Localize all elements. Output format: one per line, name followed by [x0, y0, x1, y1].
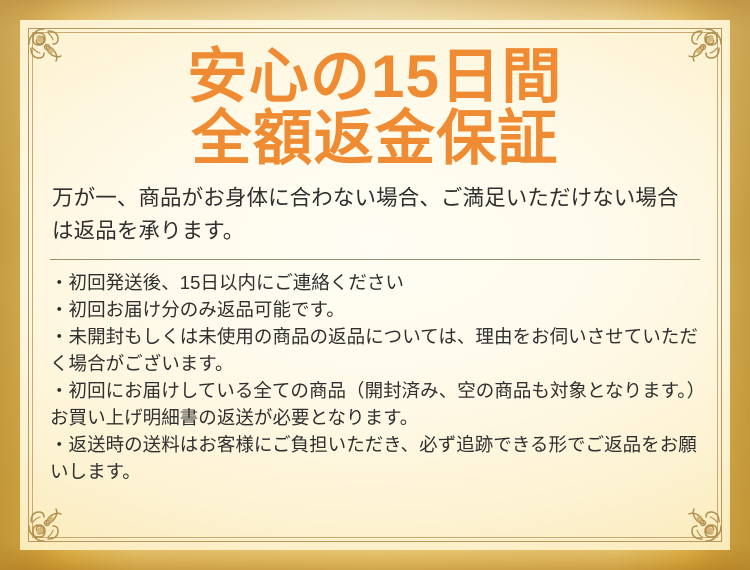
headline-line-1: 安心の15日間	[187, 43, 562, 110]
list-item: ・初回お届け分のみ返品可能です。	[50, 296, 702, 323]
list-item: ・未開封もしくは未使用の商品の返品については、理由をお伺いさせていただく場合がご…	[50, 323, 702, 377]
banner-content: 安心の15日間 全額返金保証 万が一、商品がお身体に合わない場合、ご満足いただけ…	[20, 20, 730, 550]
lead-text: 万が一、商品がお身体に合わない場合、ご満足いただけない場合は返品を承ります。	[52, 182, 700, 249]
page-title: 安心の15日間 全額返金保証	[44, 42, 706, 170]
section-divider	[50, 259, 700, 260]
headline-line-2: 全額返金保証	[44, 108, 706, 170]
notes-list: ・初回発送後、15日以内にご連絡ください ・初回お届け分のみ返品可能です。 ・未…	[50, 269, 702, 485]
list-item: ・初回にお届けしている全ての商品（開封済み、空の商品も対象となります。）お買い上…	[50, 377, 702, 431]
guarantee-card: 安心の15日間 全額返金保証 万が一、商品がお身体に合わない場合、ご満足いただけ…	[20, 20, 730, 550]
guarantee-banner: 安心の15日間 全額返金保証 万が一、商品がお身体に合わない場合、ご満足いただけ…	[0, 0, 750, 570]
list-item: ・返送時の送料はお客様にご負担いただき、必ず追跡できる形でご返品をお願いします。	[50, 431, 702, 485]
list-item: ・初回発送後、15日以内にご連絡ください	[50, 269, 702, 296]
